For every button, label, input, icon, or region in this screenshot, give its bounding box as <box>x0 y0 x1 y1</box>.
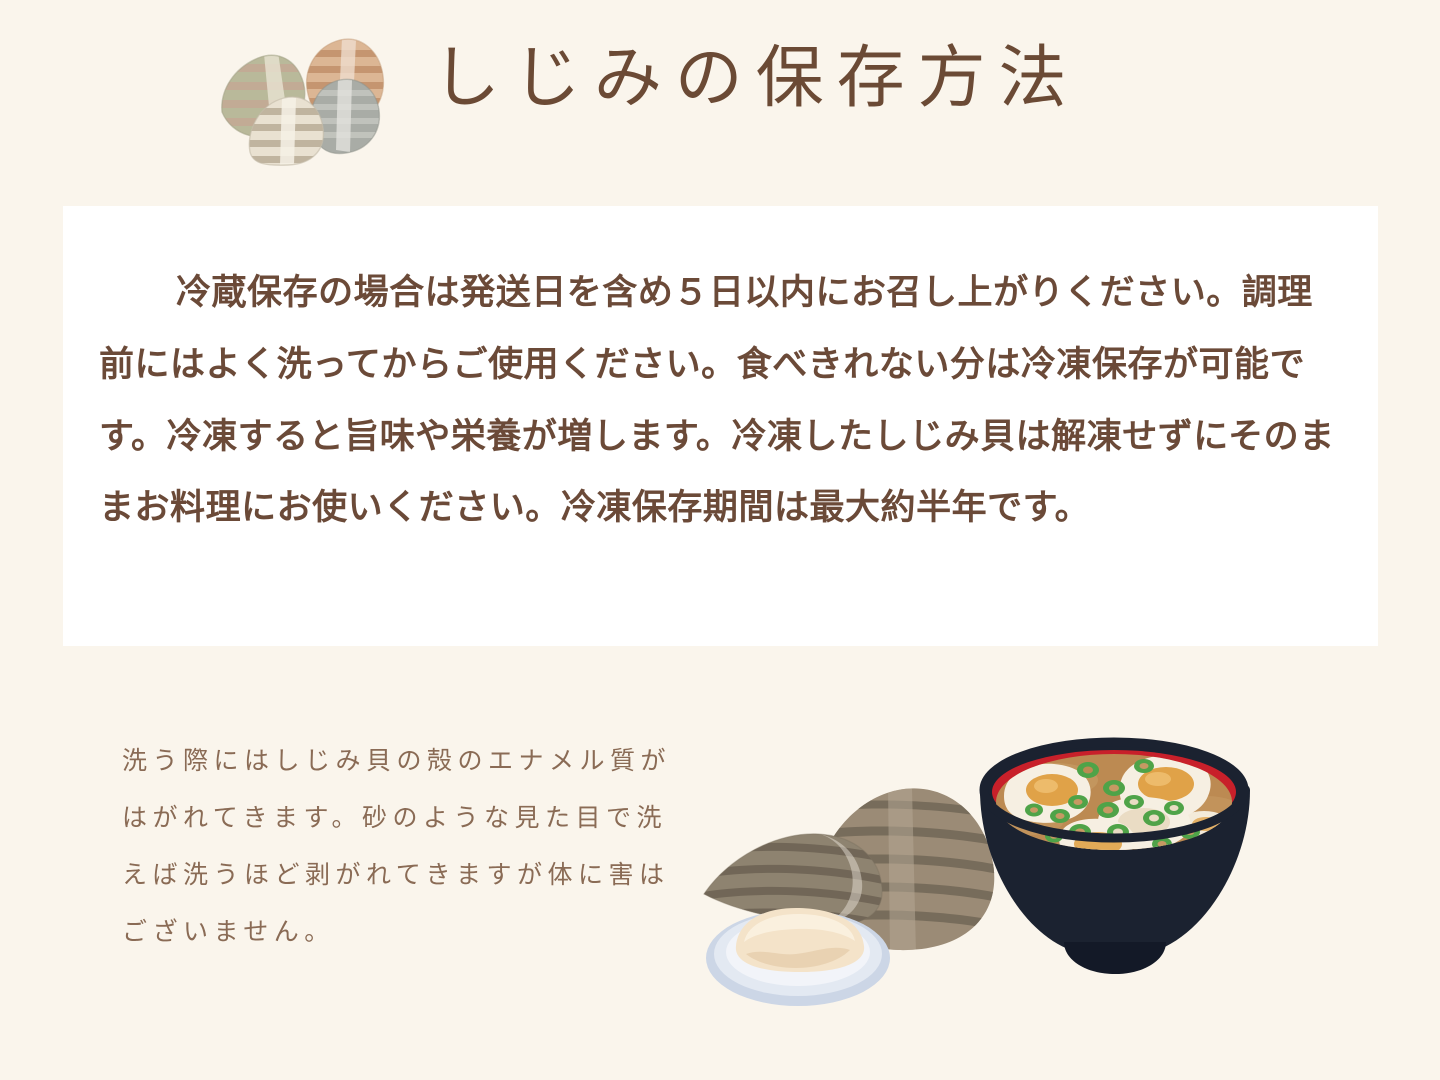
clam-shells-illustration <box>216 34 396 166</box>
page-title: しじみの保存方法 <box>432 44 1079 112</box>
enamel-note-text: 洗う際にはしじみ貝の殻のエナメル質がはがれてきます。砂のような見た目で洗えば洗う… <box>122 733 682 961</box>
main-content-card: 冷蔵保存の場合は発送日を含め５日以内にお召し上がりください。調理前にはよく洗って… <box>63 206 1378 646</box>
page-header: しじみの保存方法 <box>0 0 1440 200</box>
miso-soup-bowl-illustration <box>958 698 1284 1003</box>
storage-instructions-text: 冷蔵保存の場合は発送日を含め５日以内にお召し上がりください。調理前にはよく洗って… <box>99 257 1344 544</box>
